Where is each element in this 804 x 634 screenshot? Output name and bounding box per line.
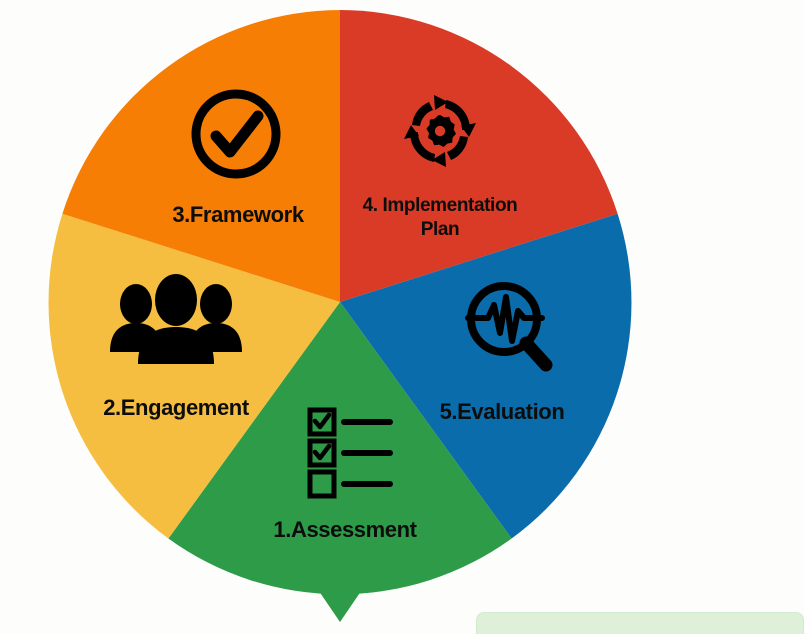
segment-evaluation-label: 5.Evaluation: [440, 399, 565, 424]
segment-engagement-label: 2.Engagement: [103, 395, 250, 420]
segment-implementation-plan-label-line2: Plan: [421, 219, 460, 240]
segment-implementation-plan-label-line1: 4. Implementation: [363, 195, 518, 216]
users-group-icon: [110, 274, 242, 364]
process-wheel-svg: 4. Implementation Plan 5.Evaluation: [0, 0, 804, 630]
diagram-stage: 4. Implementation Plan 5.Evaluation: [0, 0, 804, 630]
segment-framework-label: 3.Framework: [172, 202, 304, 227]
speech-bubble-tail: [310, 578, 370, 622]
segment-assessment-label: 1.Assessment: [273, 517, 417, 542]
bottom-panel-edge: [476, 612, 804, 634]
